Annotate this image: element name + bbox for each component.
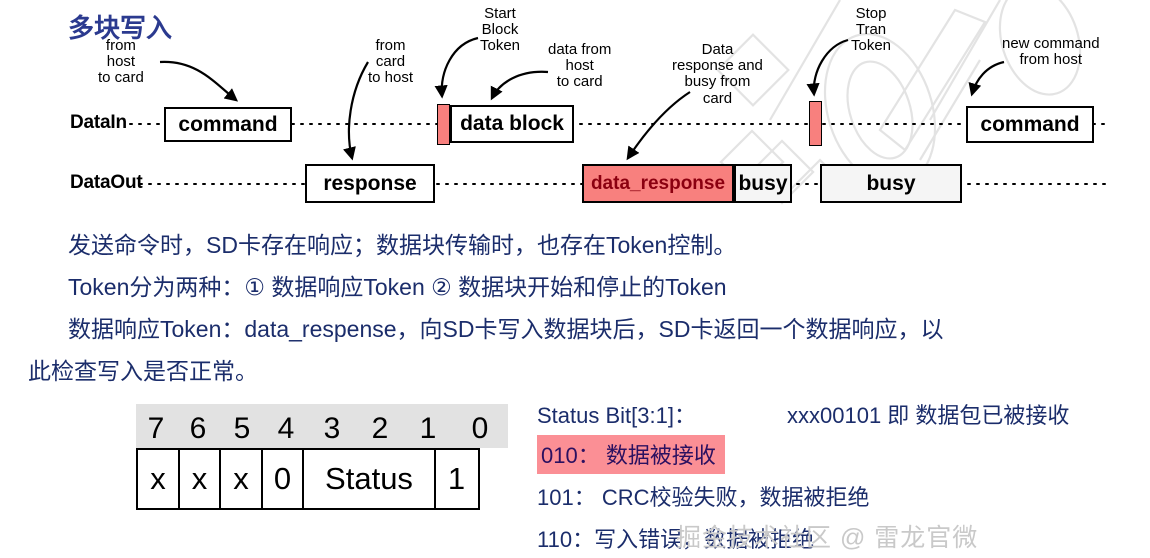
ann-data-response-busy-l3: busy from: [672, 74, 763, 90]
ann-data-from-host-l2: host: [548, 58, 611, 74]
legend-row-010: 010： 数据被接收: [537, 435, 725, 474]
ann-from-host-to-card-l3: to card: [98, 70, 144, 86]
bit-cell-5: x: [219, 448, 263, 510]
row-label-datain: DataIn: [70, 112, 127, 134]
busy-packet-2-label: busy: [866, 172, 915, 196]
ann-stop-tran-token-l3: Token: [851, 38, 891, 54]
ann-data-from-host-l1: data from: [548, 42, 611, 58]
ann-data-response-busy-l4: card: [672, 91, 763, 107]
bit-cell-0: 1: [434, 448, 480, 510]
status-bit-table: 7 6 5 4 3 2 1 0 x x x 0 Status 1: [136, 404, 508, 510]
bit-number-4: 4: [264, 404, 308, 448]
ann-new-command-from-host: new command from host: [1002, 36, 1100, 68]
ann-from-host-to-card-l2: host: [98, 54, 144, 70]
ann-stop-tran-token-l2: Tran: [851, 22, 891, 38]
timing-diagram: 多块写入 Dat: [0, 0, 1150, 225]
busy-packet-1: busy: [734, 164, 792, 203]
bit-cell-7: x: [136, 448, 180, 510]
bit-number-0: 0: [452, 404, 508, 448]
prose-line-4: 此检查写入是否正常。: [28, 360, 258, 383]
stop-tran-token-bar: [809, 101, 822, 146]
legend-row-110: 110：写入错误，数据被拒绝: [537, 522, 814, 554]
ann-from-card-to-host-l1: from: [368, 38, 413, 54]
ann-from-card-to-host: from card to host: [368, 38, 413, 87]
bit-cell-6: x: [178, 448, 222, 510]
command-packet-2-label: command: [980, 113, 1079, 137]
response-packet: response: [305, 164, 435, 203]
bit-number-1: 1: [404, 404, 452, 448]
ann-start-block-token-l2: Block: [480, 22, 520, 38]
busy-packet-1-label: busy: [738, 172, 787, 196]
bit-number-5: 5: [220, 404, 264, 448]
ann-data-response-busy-l1: Data: [672, 42, 763, 58]
bit-number-2: 2: [356, 404, 404, 448]
command-packet-2: command: [966, 106, 1094, 143]
ann-new-command-l2: from host: [1002, 52, 1100, 68]
ann-data-from-host-to-card: data from host to card: [548, 42, 611, 91]
command-packet-1-label: command: [178, 113, 277, 137]
page-root: 多块写入 Dat: [0, 0, 1150, 558]
ann-from-card-to-host-l3: to host: [368, 70, 413, 86]
ann-from-host-to-card: from host to card: [98, 38, 144, 87]
busy-packet-2: busy: [820, 164, 962, 203]
response-packet-label: response: [323, 172, 416, 196]
bit-value-row: x x x 0 Status 1: [136, 448, 508, 510]
legend-row-101: 101： CRC校验失败，数据被拒绝: [537, 480, 869, 512]
ann-from-card-to-host-l2: card: [368, 54, 413, 70]
ann-start-block-token: Start Block Token: [480, 6, 520, 55]
ann-data-from-host-l3: to card: [548, 74, 611, 90]
ann-stop-tran-token-l1: Stop: [851, 6, 891, 22]
bit-number-header-row: 7 6 5 4 3 2 1 0: [136, 404, 508, 448]
ann-data-response-busy: Data response and busy from card: [672, 42, 763, 107]
legend-heading-example: xxx00101 即 数据包已被接收: [787, 398, 1069, 430]
prose-line-1: 发送命令时，SD卡存在响应；数据块传输时，也存在Token控制。: [68, 234, 736, 257]
ann-data-response-busy-l2: response and: [672, 58, 763, 74]
legend-heading: Status Bit[3:1]：: [537, 398, 696, 430]
ann-from-host-to-card-l1: from: [98, 38, 144, 54]
command-packet-1: command: [164, 107, 292, 142]
bit-number-3: 3: [308, 404, 356, 448]
prose-line-3: 数据响应Token：data_respense，向SD卡写入数据块后，SD卡返回…: [68, 318, 943, 341]
ann-start-block-token-l3: Token: [480, 38, 520, 54]
bit-cell-status: Status: [302, 448, 436, 510]
ann-start-block-token-l1: Start: [480, 6, 520, 22]
start-block-token-bar: [437, 104, 450, 145]
bit-number-7: 7: [136, 404, 176, 448]
prose-line-2: Token分为两种：① 数据响应Token ② 数据块开始和停止的Token: [68, 276, 727, 299]
ann-new-command-l1: new command: [1002, 36, 1100, 52]
data-response-packet: data_response: [582, 164, 734, 203]
bit-cell-4: 0: [261, 448, 305, 510]
row-label-dataout: DataOut: [70, 172, 143, 194]
data-block-packet-label: data block: [460, 112, 564, 136]
data-response-packet-label: data_response: [591, 173, 725, 195]
data-block-packet: data block: [450, 105, 574, 143]
bit-number-6: 6: [176, 404, 220, 448]
ann-stop-tran-token: Stop Tran Token: [851, 6, 891, 55]
